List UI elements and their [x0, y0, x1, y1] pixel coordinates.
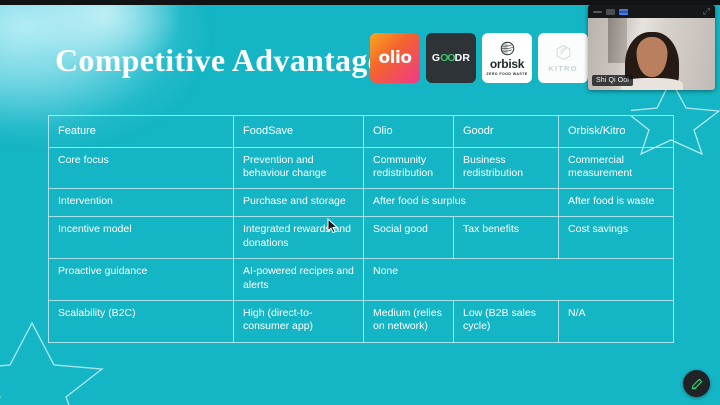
kitro-logo: KITRO: [538, 33, 588, 83]
orbisk-logo: orbisk ZERO FOOD WASTE: [482, 33, 532, 83]
goodr-logo-wordmark: GOODR: [432, 52, 470, 64]
page-title: Competitive Advantage: [55, 42, 382, 79]
video-feed[interactable]: Shi Qi Ooi: [588, 18, 715, 90]
edit-pencil-icon: [690, 377, 704, 391]
cell-core-focus-olio: Community redistribution: [364, 147, 454, 189]
table-header-orbisk-kitro: Orbisk/Kitro: [559, 116, 674, 148]
row-label-proactive-guidance: Proactive guidance: [49, 258, 234, 300]
video-panel-toolbar: ⤢: [588, 5, 715, 18]
cell-scalability-goodr: Low (B2B sales cycle): [454, 300, 559, 342]
goodr-oo-rings: OO: [440, 52, 454, 64]
cell-intervention-foodsave: Purchase and storage: [234, 189, 364, 217]
cell-scalability-olio: Medium (relies on network): [364, 300, 454, 342]
cell-core-focus-orbisk-kitro: Commercial measurement: [559, 147, 674, 189]
kitro-logo-wordmark: KITRO: [548, 64, 577, 73]
cell-core-focus-goodr: Business redistribution: [454, 147, 559, 189]
expand-arrows-icon[interactable]: ⤢: [703, 7, 710, 16]
table-header-feature: Feature: [49, 116, 234, 148]
goodr-logo: GOODR: [426, 33, 476, 83]
cell-scalability-orbisk-kitro: N/A: [559, 300, 674, 342]
table-row: Proactive guidance AI-powered recipes an…: [49, 258, 674, 300]
orbisk-logo-wordmark: orbisk: [490, 58, 524, 70]
window-top-bar: [0, 0, 720, 5]
cell-scalability-foodsave: High (direct-to-consumer app): [234, 300, 364, 342]
row-label-core-focus: Core focus: [49, 147, 234, 189]
cell-intervention-orbisk-kitro: After food is waste: [559, 189, 674, 217]
mouse-cursor: [327, 218, 338, 234]
olio-logo-wordmark: olio: [378, 48, 411, 68]
split-view-icon[interactable]: [619, 9, 628, 15]
table-header-olio: Olio: [364, 116, 454, 148]
row-label-intervention: Intervention: [49, 189, 234, 217]
cell-proactive-foodsave: AI-powered recipes and alerts: [234, 258, 364, 300]
goodr-dr: DR: [455, 52, 471, 64]
kitro-hexagon-icon: [555, 44, 572, 61]
row-label-scalability: Scalability (B2C): [49, 300, 234, 342]
cell-proactive-others: None: [364, 258, 674, 300]
cell-incentive-orbisk-kitro: Cost savings: [559, 217, 674, 259]
row-label-incentive-model: Incentive model: [49, 217, 234, 259]
cell-incentive-goodr: Tax benefits: [454, 217, 559, 259]
participant-name-label: Shi Qi Ooi: [592, 75, 633, 87]
participant-video-panel[interactable]: ⤢ Shi Qi Ooi: [588, 5, 715, 90]
slide-canvas: Competitive Advantage olio GOODR orbisk …: [0, 0, 720, 405]
table-header-foodsave: FoodSave: [234, 116, 364, 148]
orbisk-logo-tagline: ZERO FOOD WASTE: [486, 72, 527, 76]
table-row: Incentive model Integrated rewards and d…: [49, 217, 674, 259]
goodr-g: G: [432, 52, 440, 64]
cell-core-focus-foodsave: Prevention and behaviour change: [234, 147, 364, 189]
speaker-view-icon[interactable]: [593, 11, 602, 13]
cell-intervention-olio-goodr: After food is surplus: [364, 189, 559, 217]
edit-pencil-button[interactable]: [683, 370, 710, 397]
table-row: Core focus Prevention and behaviour chan…: [49, 147, 674, 189]
table-header-row: Feature FoodSave Olio Goodr Orbisk/Kitro: [49, 116, 674, 148]
gallery-view-icon[interactable]: [606, 9, 615, 15]
table-header-goodr: Goodr: [454, 116, 559, 148]
olio-logo: olio: [370, 33, 420, 83]
cell-incentive-olio: Social good: [364, 217, 454, 259]
competitor-logo-row: olio GOODR orbisk ZERO FOOD WASTE KITRO: [370, 33, 588, 83]
competitive-comparison-table: Feature FoodSave Olio Goodr Orbisk/Kitro…: [48, 115, 673, 343]
table-row: Intervention Purchase and storage After …: [49, 189, 674, 217]
table-row: Scalability (B2C) High (direct-to-consum…: [49, 300, 674, 342]
orbisk-leaf-icon: [500, 41, 515, 56]
cell-incentive-foodsave: Integrated rewards and donations: [234, 217, 364, 259]
